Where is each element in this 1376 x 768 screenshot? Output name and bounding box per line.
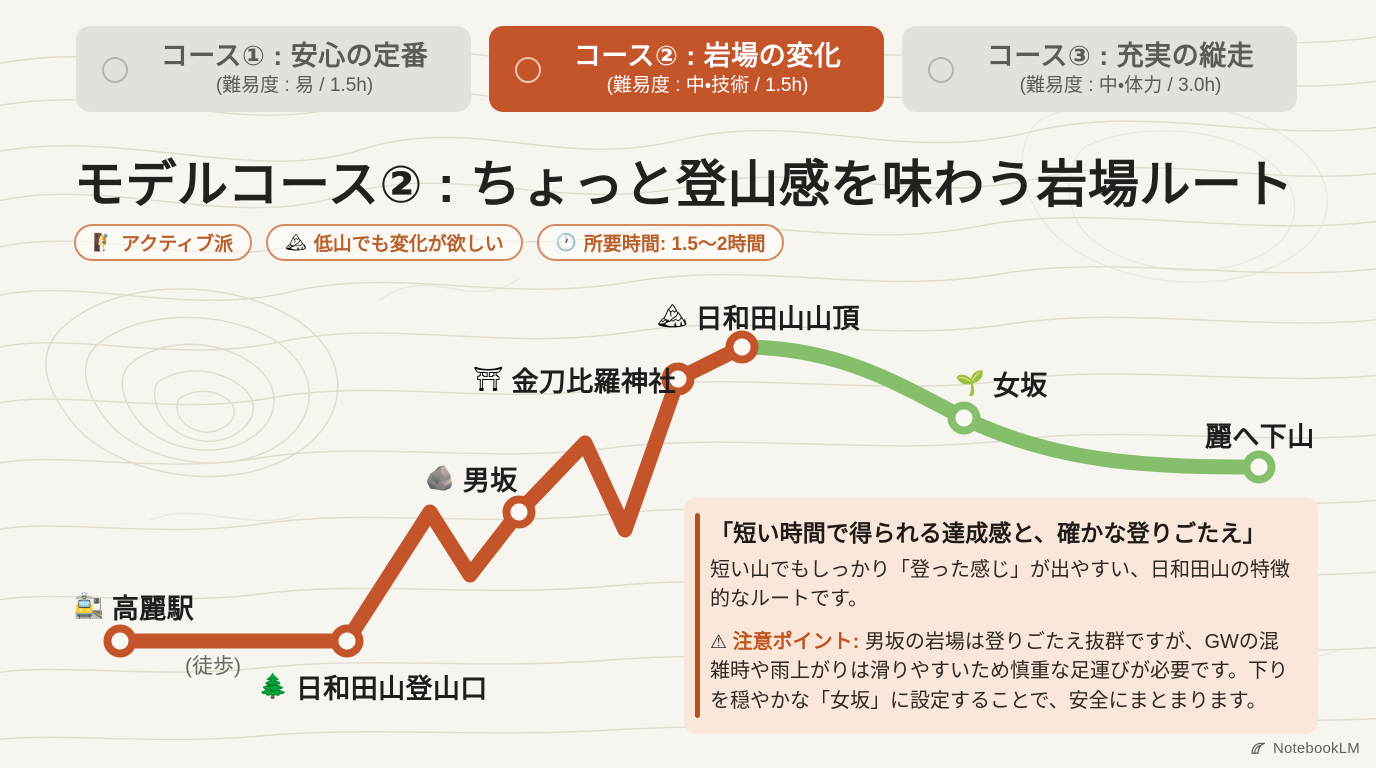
route-label-otokozaka: 🪨男坂 [425,459,518,498]
route-label-trailhead: 🌲日和田山登山口 [258,667,488,706]
route-label-descend-foot-text: 麗へ下山 [1205,415,1315,454]
route-label-koma-station-text: 高麗駅 [112,587,194,626]
watermark-text: NotebookLM [1273,740,1360,757]
notebooklm-logo-icon [1250,740,1267,757]
route-label-summit: 🏔日和田山山頂 [657,297,860,336]
route-label-trailhead-text: 日和田山登山口 [296,667,488,706]
route-caution-key: 注意ポイント: [733,631,860,653]
torii-shrine-icon: ⛩ [473,368,503,392]
route-label-summit-text: 日和田山山頂 [695,297,859,336]
route-label-otokozaka-text: 男坂 [463,459,518,498]
route-label-onnazaka: 🌱女坂 [955,364,1048,403]
mountain-summit-icon: 🏔 [657,305,687,329]
route-summary-card: 「短い時間で得られる達成感と、確かな登りごたえ」 短い山でもしっかり「登った感じ… [684,497,1318,734]
route-label-kotohira-shrine: ⛩金刀比羅神社 [473,360,676,399]
walking-segment-note: (徒歩) [185,650,241,680]
route-node-descend-foot[interactable] [1247,455,1272,480]
route-label-kotohira-shrine-text: 金刀比羅神社 [511,360,675,399]
evergreen-tree-icon: 🌲 [258,675,288,699]
route-label-descend-foot: 麗へ下山 [1205,415,1315,454]
route-node-trailhead[interactable] [335,629,360,654]
route-caution-note: ⚠ 注意ポイント: 男坂の岩場は登りごたえ抜群ですが、GWの混雑時や雨上がりは滑… [710,628,1294,716]
route-summary-title: 「短い時間で得られる達成感と、確かな登りごたえ」 [710,514,1294,548]
route-node-koma-station[interactable] [108,629,133,654]
train-station-icon: 🚉 [74,595,104,619]
route-node-onnazaka[interactable] [952,406,977,431]
route-summary-body: 短い山でもしっかり「登った感じ」が出やすい、日和田山の特徴的なルートです。 [710,556,1294,615]
route-node-summit[interactable] [730,335,755,360]
warning-icon: ⚠ [710,632,727,653]
route-node-otokozaka[interactable] [507,500,532,525]
notebooklm-watermark: NotebookLM [1250,740,1360,757]
rock-icon: 🪨 [425,467,455,491]
route-label-koma-station: 🚉高麗駅 [74,587,194,626]
route-label-onnazaka-text: 女坂 [993,364,1048,403]
seedling-icon: 🌱 [955,372,985,396]
